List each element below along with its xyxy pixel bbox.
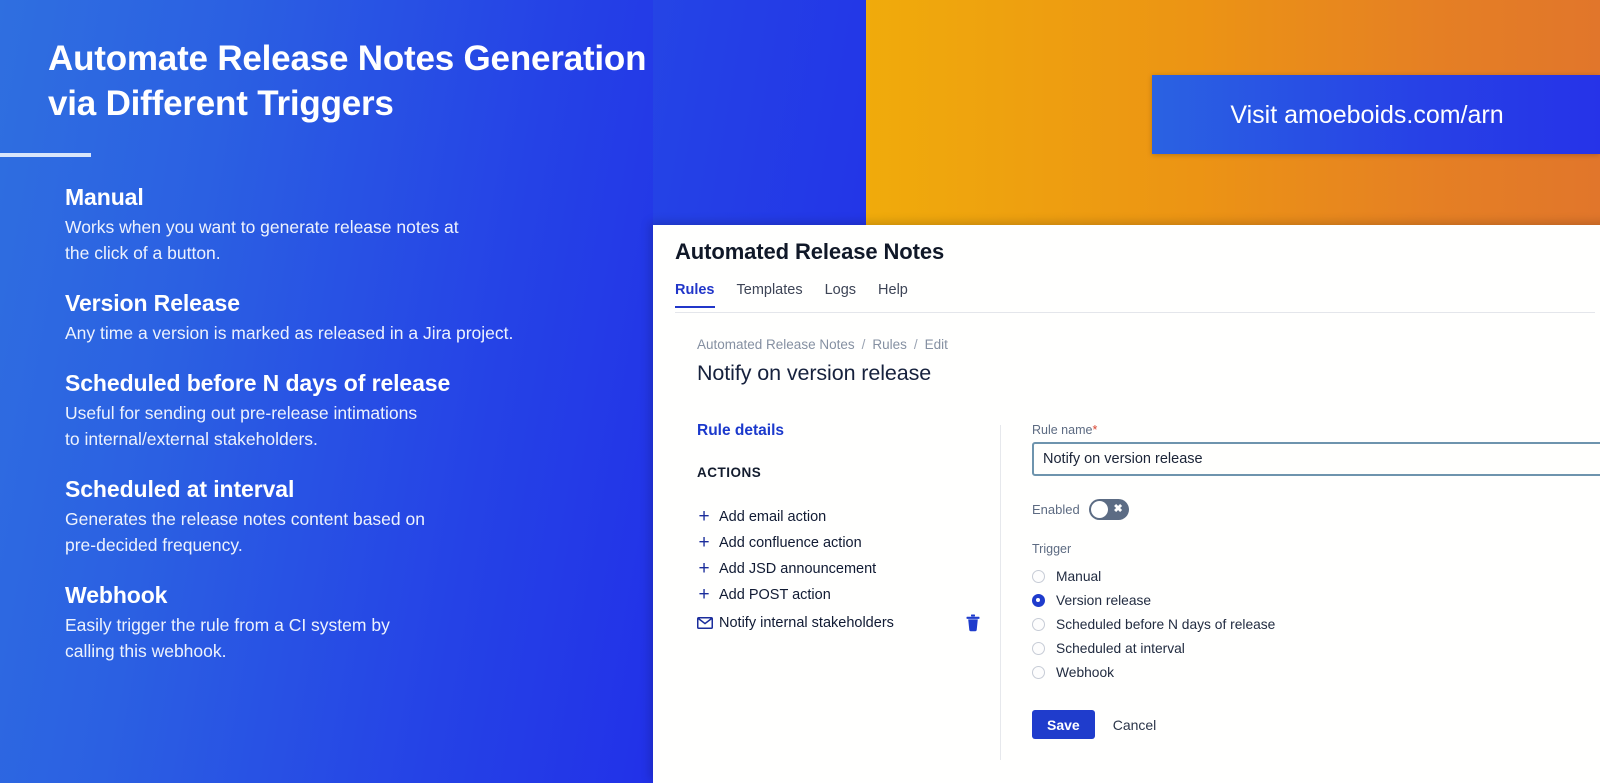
rule-name-label-text: Rule name bbox=[1032, 423, 1092, 437]
existing-action-notify-internal-stakeholders[interactable]: Notify internal stakeholders bbox=[697, 610, 997, 636]
add-email-action-button[interactable]: + Add email action bbox=[697, 504, 997, 530]
rule-name-input[interactable] bbox=[1032, 442, 1600, 476]
envelope-icon bbox=[697, 617, 713, 629]
breadcrumb-separator: / bbox=[862, 337, 866, 352]
trash-icon[interactable] bbox=[965, 614, 981, 632]
feature-title: Webhook bbox=[65, 580, 645, 610]
sidebar-form-divider bbox=[1000, 425, 1001, 760]
trigger-option-scheduled-at-interval[interactable]: Scheduled at interval bbox=[1032, 636, 1600, 660]
feature-description: Easily trigger the rule from a CI system… bbox=[65, 612, 645, 664]
trigger-option-label: Webhook bbox=[1056, 665, 1114, 680]
plus-icon: + bbox=[697, 562, 711, 576]
feature-description: Useful for sending out pre-release intim… bbox=[65, 400, 645, 452]
feature-description: Generates the release notes content base… bbox=[65, 506, 645, 558]
radio-icon bbox=[1032, 618, 1045, 631]
feature-title: Scheduled at interval bbox=[65, 474, 645, 504]
form-actions: Save Cancel bbox=[1032, 710, 1600, 739]
enabled-label: Enabled bbox=[1032, 502, 1080, 517]
breadcrumb-item-rules[interactable]: Rules bbox=[872, 337, 907, 352]
app-title: Automated Release Notes bbox=[675, 239, 944, 265]
tab-rules[interactable]: Rules bbox=[675, 282, 715, 308]
slide-canvas: Automate Release Notes Generation via Di… bbox=[0, 0, 1600, 783]
save-button[interactable]: Save bbox=[1032, 710, 1095, 739]
tab-bar: Rules Templates Logs Help bbox=[675, 282, 1595, 313]
feature-title: Version Release bbox=[65, 288, 645, 318]
feature-description: Any time a version is marked as released… bbox=[65, 320, 645, 346]
rule-details-link[interactable]: Rule details bbox=[697, 422, 997, 440]
action-label: Add email action bbox=[719, 509, 826, 525]
cancel-button[interactable]: Cancel bbox=[1109, 717, 1161, 733]
radio-icon bbox=[1032, 570, 1045, 583]
radio-icon bbox=[1032, 666, 1045, 679]
action-label: Notify internal stakeholders bbox=[719, 615, 894, 631]
title-underline-rule bbox=[0, 153, 91, 157]
add-jsd-announcement-button[interactable]: + Add JSD announcement bbox=[697, 556, 997, 582]
feature-item-scheduled-at-interval: Scheduled at interval Generates the rele… bbox=[65, 474, 645, 558]
plus-icon: + bbox=[697, 588, 711, 602]
enabled-toggle-row: Enabled ✖ bbox=[1032, 499, 1600, 520]
feature-item-version-release: Version Release Any time a version is ma… bbox=[65, 288, 645, 346]
visit-site-badge[interactable]: Visit amoeboids.com/arn bbox=[1152, 75, 1600, 154]
action-label: Add confluence action bbox=[719, 535, 862, 551]
tab-logs[interactable]: Logs bbox=[825, 282, 856, 306]
close-icon: ✖ bbox=[1114, 502, 1123, 517]
trigger-option-scheduled-before-n-days[interactable]: Scheduled before N days of release bbox=[1032, 612, 1600, 636]
feature-list: Manual Works when you want to generate r… bbox=[65, 182, 645, 664]
actions-section-heading: ACTIONS bbox=[697, 465, 997, 480]
enabled-toggle[interactable]: ✖ bbox=[1089, 499, 1129, 520]
feature-title: Scheduled before N days of release bbox=[65, 368, 645, 398]
radio-icon-selected bbox=[1032, 594, 1045, 607]
feature-item-webhook: Webhook Easily trigger the rule from a C… bbox=[65, 580, 645, 664]
trigger-option-label: Version release bbox=[1056, 593, 1151, 608]
plus-icon: + bbox=[697, 510, 711, 524]
feature-item-scheduled-before-n-days: Scheduled before N days of release Usefu… bbox=[65, 368, 645, 452]
visit-site-label: Visit amoeboids.com/arn bbox=[1230, 100, 1503, 130]
trigger-option-version-release[interactable]: Version release bbox=[1032, 588, 1600, 612]
action-label: Add JSD announcement bbox=[719, 561, 876, 577]
trigger-option-label: Scheduled at interval bbox=[1056, 641, 1185, 656]
page-title: Automate Release Notes Generation via Di… bbox=[48, 36, 738, 126]
trigger-option-label: Manual bbox=[1056, 569, 1101, 584]
trigger-option-webhook[interactable]: Webhook bbox=[1032, 660, 1600, 684]
trigger-radio-group: Trigger Manual Version release Scheduled… bbox=[1032, 542, 1600, 684]
add-confluence-action-button[interactable]: + Add confluence action bbox=[697, 530, 997, 556]
app-window: Automated Release Notes Rules Templates … bbox=[653, 225, 1600, 783]
radio-icon bbox=[1032, 642, 1045, 655]
rule-name-label: Rule name* bbox=[1032, 423, 1600, 437]
trigger-option-label: Scheduled before N days of release bbox=[1056, 617, 1275, 632]
feature-description: Works when you want to generate release … bbox=[65, 214, 645, 266]
rule-page-heading: Notify on version release bbox=[697, 361, 931, 386]
breadcrumb-item-edit[interactable]: Edit bbox=[925, 337, 948, 352]
tab-help[interactable]: Help bbox=[878, 282, 908, 306]
rule-form: Rule name* Enabled ✖ Trigger Manual Ve bbox=[1032, 423, 1600, 739]
toggle-knob bbox=[1091, 501, 1108, 518]
tab-templates[interactable]: Templates bbox=[737, 282, 803, 306]
rule-editor-sidebar: Rule details ACTIONS + Add email action … bbox=[697, 422, 997, 636]
add-post-action-button[interactable]: + Add POST action bbox=[697, 582, 997, 608]
feature-title: Manual bbox=[65, 182, 645, 212]
required-marker: * bbox=[1092, 423, 1097, 437]
hero-block: Automate Release Notes Generation via Di… bbox=[48, 36, 738, 126]
trigger-label: Trigger bbox=[1032, 542, 1600, 556]
feature-item-manual: Manual Works when you want to generate r… bbox=[65, 182, 645, 266]
plus-icon: + bbox=[697, 536, 711, 550]
trigger-option-manual[interactable]: Manual bbox=[1032, 564, 1600, 588]
breadcrumb: Automated Release Notes / Rules / Edit bbox=[697, 337, 948, 352]
action-label: Add POST action bbox=[719, 587, 831, 603]
breadcrumb-item-app[interactable]: Automated Release Notes bbox=[697, 337, 855, 352]
breadcrumb-separator: / bbox=[914, 337, 918, 352]
